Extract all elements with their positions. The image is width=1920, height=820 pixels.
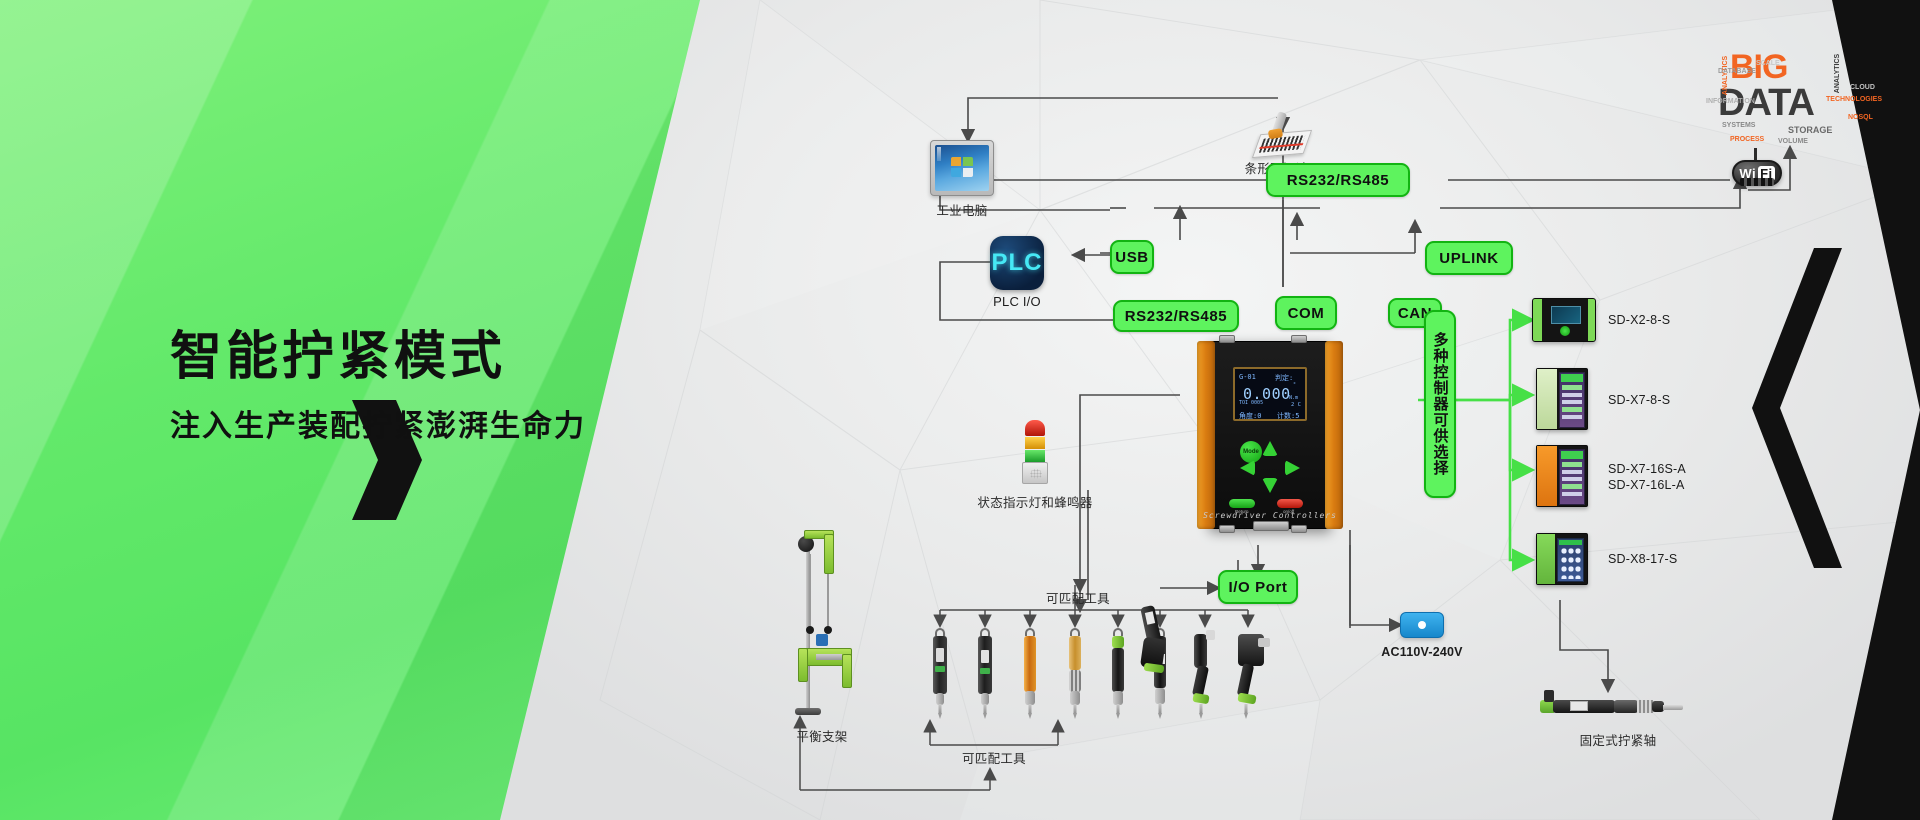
option-label-3a: SD-X7-16S-A [1608, 462, 1686, 476]
controller-option-icon-2 [1536, 368, 1588, 430]
dpad-up-icon[interactable] [1262, 441, 1278, 456]
industrial-pc-node[interactable] [930, 140, 994, 196]
power-supply-node[interactable] [1400, 612, 1444, 638]
big-data-node: BIG DATA ANALYTICS ANALYTICS TECHNOLOGIE… [1700, 40, 1880, 160]
tool-item-1[interactable] [926, 628, 954, 720]
balance-arm-icon [780, 530, 870, 720]
display-torque-id: TOI 0005 [1239, 400, 1263, 406]
port-rs232-rs485-mid[interactable]: RS232/RS485 [1113, 300, 1239, 332]
option-label-3b: SD-X7-16L-A [1608, 478, 1685, 492]
balance-arm-node[interactable] [780, 530, 870, 720]
big-data-line1: BIG [1730, 50, 1787, 84]
option-label-1: SD-X2-8-S [1608, 313, 1670, 327]
option-label-4: SD-X8-17-S [1608, 552, 1677, 566]
page-subtitle: 注入生产装配拧紧澎湃生命力 [170, 401, 790, 445]
controller-option-icon-4 [1536, 533, 1588, 585]
controller-option-icon-3 [1536, 445, 1588, 507]
fixed-spindle-node[interactable] [1540, 690, 1685, 720]
display-unit: N.m [1289, 395, 1298, 401]
tool-item-3[interactable] [1016, 628, 1044, 720]
display-angle: 角度:0 [1239, 411, 1261, 421]
balance-arm-label: 平衡支架 [772, 726, 872, 745]
barcode-reader-icon [1253, 112, 1313, 158]
tool-item-5[interactable] [1104, 628, 1132, 720]
option-label-2: SD-X7-8-S [1608, 393, 1670, 407]
industrial-pc-label: 工业电脑 [930, 200, 994, 219]
display-count: 计数:5 [1277, 411, 1299, 421]
big-data-wordcloud-icon: BIG DATA ANALYTICS ANALYTICS TECHNOLOGIE… [1700, 40, 1880, 160]
main-controller-node[interactable]: G-01 判定: 0.000 ° N.m TOI 0005 2 C 角度:0 计… [1195, 335, 1345, 535]
port-usb[interactable]: USB [1110, 240, 1154, 274]
controller-options-label: 多种控制器可供选择 [1424, 310, 1456, 498]
power-supply-icon [1400, 612, 1444, 638]
tower-lamp-node[interactable] [1022, 420, 1048, 484]
matching-tools-top-label: 可匹配工具 [1028, 588, 1128, 607]
option-sd-x7-8-s[interactable] [1536, 368, 1588, 430]
barcode-reader-node[interactable] [1253, 112, 1313, 158]
controller-display: G-01 判定: 0.000 ° N.m TOI 0005 2 C 角度:0 计… [1233, 367, 1307, 421]
screwdriver-controller-icon: G-01 判定: 0.000 ° N.m TOI 0005 2 C 角度:0 计… [1195, 335, 1345, 535]
plc-icon: PLC [990, 236, 1044, 290]
tool-item-8[interactable] [1232, 628, 1272, 720]
display-degree: ° [1293, 382, 1296, 388]
hero-text-block: 智能拧紧模式 注入生产装配拧紧澎湃生命力 [170, 330, 790, 445]
controller-dpad[interactable]: Mode [1240, 441, 1300, 493]
dpad-down-icon[interactable] [1262, 478, 1278, 493]
option-sd-x8-17-s[interactable] [1536, 533, 1588, 585]
power-supply-label: AC110V-240V [1370, 645, 1474, 659]
dpad-right-icon[interactable] [1285, 460, 1300, 476]
status-lamp-buzzer-icon [1022, 420, 1048, 484]
return-button[interactable] [1229, 499, 1255, 508]
option-sd-x7-16[interactable] [1536, 445, 1588, 507]
fixed-spindle-label: 固定式拧紧轴 [1548, 730, 1688, 749]
handheld-barcode-gun[interactable] [1140, 606, 1184, 676]
page-title: 智能拧紧模式 [170, 330, 790, 385]
fixed-spindle-icon [1540, 690, 1685, 720]
port-com[interactable]: COM [1275, 296, 1337, 330]
port-uplink[interactable]: UPLINK [1425, 241, 1513, 275]
controller-brand-label: Screwdriver Controllers [1195, 511, 1345, 520]
plc-icon-text: PLC [992, 249, 1043, 277]
plc-label: PLC I/O [975, 294, 1059, 309]
port-io[interactable]: I/O Port [1218, 570, 1298, 604]
plc-node[interactable]: PLC [990, 236, 1044, 290]
display-program: G-01 [1239, 373, 1256, 381]
tool-item-2[interactable] [971, 628, 999, 720]
power-button[interactable] [1277, 499, 1303, 508]
industrial-pc-icon [930, 140, 994, 196]
display-temp: 2 C [1291, 402, 1301, 408]
matching-tools-bottom-label: 可匹配工具 [944, 748, 1044, 767]
tool-item-4[interactable] [1061, 628, 1089, 720]
tool-item-7[interactable] [1188, 628, 1224, 720]
controller-option-icon-1 [1532, 298, 1596, 342]
tower-lamp-label: 状态指示灯和蜂鸣器 [955, 492, 1115, 511]
port-rs232-rs485-top[interactable]: RS232/RS485 [1266, 163, 1410, 197]
display-judge-label: 判定: [1275, 373, 1293, 383]
hero-banner: 智能拧紧模式 注入生产装配拧紧澎湃生命力 [0, 0, 1920, 820]
mode-button[interactable]: Mode [1240, 441, 1262, 463]
option-sd-x2-8-s[interactable] [1532, 298, 1596, 342]
